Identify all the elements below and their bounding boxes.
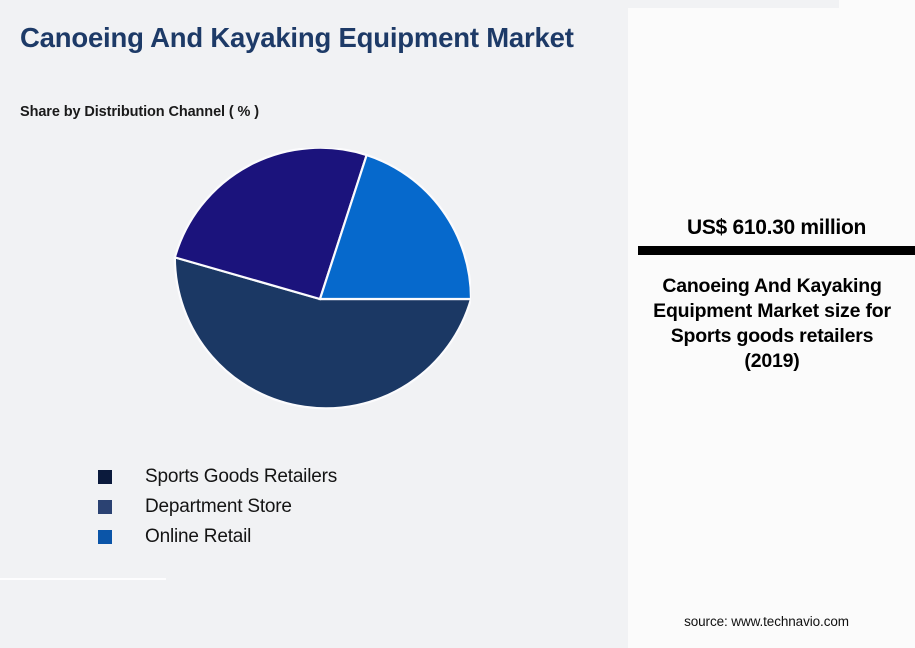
legend-swatch-icon: [98, 500, 112, 514]
legend-item-label: Department Store: [145, 496, 292, 518]
chart-panel: Canoeing And Kayaking Equipment Market S…: [0, 0, 628, 648]
legend-item-label: Online Retail: [145, 526, 251, 548]
legend-item-label: Sports Goods Retailers: [145, 466, 337, 488]
chart-legend: Sports Goods Retailers Department Store …: [98, 462, 337, 552]
panel-top-strip: [628, 0, 839, 8]
legend-swatch-icon: [98, 530, 112, 544]
callout-rule: [638, 246, 915, 255]
chart-subtitle: Share by Distribution Channel ( % ): [20, 104, 580, 120]
legend-swatch-icon: [98, 470, 112, 484]
page-title: Canoeing And Kayaking Equipment Market: [20, 22, 600, 53]
source-attribution: source: www.technavio.com: [628, 614, 905, 629]
callout-description: Canoeing And Kayaking Equipment Market s…: [646, 274, 898, 374]
pie-chart-svg: [169, 148, 471, 450]
legend-item-sports-goods-retailers[interactable]: Sports Goods Retailers: [98, 462, 337, 492]
legend-item-online-retail[interactable]: Online Retail: [98, 522, 337, 552]
pie-chart: [169, 148, 471, 450]
callout-value: US$ 610.30 million: [638, 216, 915, 240]
bottom-divider: [0, 578, 166, 580]
legend-item-department-store[interactable]: Department Store: [98, 492, 337, 522]
callout-panel: US$ 610.30 million Canoeing And Kayaking…: [628, 0, 915, 648]
market-share-infographic: Canoeing And Kayaking Equipment Market S…: [0, 0, 915, 648]
